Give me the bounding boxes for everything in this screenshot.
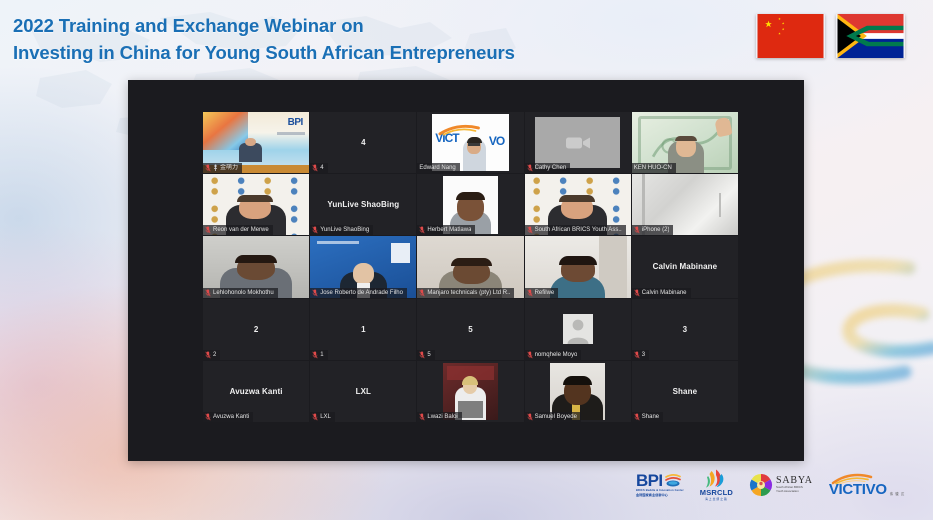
participant-center-name: Avuzwa Kanti	[226, 387, 287, 396]
msrcld-logo-mark	[705, 468, 727, 488]
participant-name-label: 3	[642, 351, 645, 359]
participant-tile[interactable]: South African BRICS Youth Ass..	[525, 174, 631, 235]
bpi-logo: BPI BRICS Buddle & Innovation Center 金砖国…	[636, 472, 684, 496]
participant-name-bar: 5	[417, 350, 434, 360]
participant-name-bar: Jose Roberto de Andrade Filho	[310, 288, 407, 298]
muted-microphone-icon	[312, 226, 318, 234]
participant-name-bar: nomqhele Moyo	[525, 350, 582, 360]
participant-name-label: KEN HUO-CN	[634, 164, 672, 172]
participant-center-name: LXL	[352, 387, 375, 396]
sponsor-logo-bar: BPI BRICS Buddle & Innovation Center 金砖国…	[636, 468, 905, 501]
muted-microphone-icon	[419, 289, 425, 297]
participant-name-bar: Lwazi Baloi	[417, 412, 461, 422]
south-africa-flag	[836, 14, 905, 58]
muted-microphone-icon	[205, 164, 211, 172]
participant-name-label: Cathy Chen	[535, 164, 567, 172]
participant-name-bar: Avuzwa Kanti	[203, 412, 253, 422]
flag-group	[756, 14, 905, 58]
participant-tile[interactable]: Calvin MabinaneCalvin Mabinane	[632, 236, 738, 297]
participant-tile[interactable]: 33	[632, 299, 738, 360]
muted-microphone-icon	[527, 351, 533, 359]
participant-name-label: Avuzwa Kanti	[213, 413, 249, 421]
participant-tile[interactable]: Refilwe	[525, 236, 631, 297]
participant-name-label: Manjaro technicals (pty) Ltd R..	[427, 289, 510, 297]
muted-microphone-icon	[634, 289, 640, 297]
participant-name-bar: 2	[203, 350, 220, 360]
participant-tile[interactable]: Samuel Boyede	[525, 361, 631, 422]
participant-name-label: 2	[213, 351, 216, 359]
participant-name-bar: South African BRICS Youth Ass..	[525, 225, 626, 235]
participant-name-bar: LXL	[310, 412, 335, 422]
participant-name-label: Refilwe	[535, 289, 555, 297]
msrcld-logo-text: MSRCLD	[700, 488, 733, 497]
participant-tile[interactable]: KEN HUO-CN	[632, 112, 738, 173]
participant-number-label: 2	[254, 325, 258, 334]
page-title-line-2: Investing in China for Young South Afric…	[13, 39, 633, 66]
participant-center-name: Calvin Mabinane	[649, 262, 722, 271]
participant-name-label: 5	[427, 351, 430, 359]
participant-center-name: Shane	[669, 387, 702, 396]
victivo-logo: VICTIVO 伟 骏 达	[829, 473, 905, 497]
participant-name-label: 4	[320, 164, 323, 172]
participant-tile[interactable]: ShaneShane	[632, 361, 738, 422]
victivo-logo-subtitle: 伟 骏 达	[890, 492, 905, 497]
participant-name-label: LXL	[320, 413, 331, 421]
sabya-logo-subtitle-2: Youth Association	[776, 490, 813, 494]
participant-number-label: 1	[361, 325, 365, 334]
participant-tile[interactable]: 44	[310, 112, 416, 173]
muted-microphone-icon	[312, 164, 318, 172]
participant-tile[interactable]: Herbert Matlawa	[417, 174, 523, 235]
muted-microphone-icon	[419, 351, 425, 359]
muted-microphone-icon	[527, 226, 533, 234]
page-title-line-1: 2022 Training and Exchange Webinar on	[13, 12, 633, 39]
participant-name-label: Calvin Mabinane	[642, 289, 687, 297]
participant-name-label: Edward Nang	[419, 164, 455, 172]
muted-microphone-icon	[634, 351, 640, 359]
muted-microphone-icon	[419, 413, 425, 421]
bpi-logo-subtitle-cn: 金砖国家商业创新中心	[636, 493, 668, 497]
participant-avatar	[563, 314, 593, 344]
bpi-logo-mark	[665, 474, 681, 487]
participant-number-label: 4	[361, 138, 365, 147]
participant-name-label: Herbert Matlawa	[427, 226, 471, 234]
muted-microphone-icon	[527, 164, 533, 172]
participant-tile[interactable]: 55	[417, 299, 523, 360]
participant-number-label: 5	[468, 325, 472, 334]
bpi-logo-text: BPI	[636, 472, 663, 489]
participant-name-bar: Calvin Mabinane	[632, 288, 691, 298]
participant-grid: BPI金萌力44VICTVOEdward NangCathy ChenKEN H…	[203, 112, 738, 422]
participant-name-bar: 3	[632, 350, 649, 360]
camera-off-placeholder	[535, 117, 620, 168]
participant-tile[interactable]: VICTVOEdward Nang	[417, 112, 523, 173]
participant-name-bar: YunLive ShaoBing	[310, 225, 373, 235]
participant-name-bar: 1	[310, 350, 327, 360]
muted-microphone-icon	[205, 351, 211, 359]
victivo-logo-text: VICTIVO	[829, 482, 887, 497]
muted-microphone-icon	[634, 226, 640, 234]
participant-name-bar: 金萌力	[203, 163, 242, 173]
participant-name-label: 金萌力	[220, 164, 238, 172]
muted-microphone-icon	[419, 226, 425, 234]
muted-microphone-icon	[527, 413, 533, 421]
participant-name-bar: Reon van der Merwe	[203, 225, 273, 235]
participant-name-label: Lehlohonolo Mokhothu	[213, 289, 274, 297]
sabya-logo: SABYA South African BRICS Youth Associat…	[749, 473, 813, 497]
msrcld-logo-subtitle: 海上丝绸之路	[705, 497, 728, 501]
msrcld-logo: MSRCLD 海上丝绸之路	[700, 468, 733, 501]
participant-tile[interactable]: Reon van der Merwe	[203, 174, 309, 235]
participant-name-label: iPhone (2)	[642, 226, 670, 234]
participant-tile[interactable]: iPhone (2)	[632, 174, 738, 235]
participant-tile[interactable]: Cathy Chen	[525, 112, 631, 173]
muted-microphone-icon	[205, 413, 211, 421]
participant-name-label: 1	[320, 351, 323, 359]
participant-name-label: Samuel Boyede	[535, 413, 577, 421]
participant-tile[interactable]: 22	[203, 299, 309, 360]
page-title: 2022 Training and Exchange Webinar on In…	[13, 12, 633, 66]
participant-name-label: Jose Roberto de Andrade Filho	[320, 289, 403, 297]
participant-name-label: YunLive ShaoBing	[320, 226, 369, 234]
muted-microphone-icon	[312, 289, 318, 297]
participant-name-bar: Edward Nang	[417, 163, 459, 173]
participant-name-bar: Lehlohonolo Mokhothu	[203, 288, 278, 298]
muted-microphone-icon	[527, 289, 533, 297]
china-flag	[756, 14, 825, 58]
zoom-meeting-window[interactable]: BPI金萌力44VICTVOEdward NangCathy ChenKEN H…	[128, 80, 804, 461]
muted-microphone-icon	[312, 351, 318, 359]
participant-name-label: South African BRICS Youth Ass..	[535, 226, 622, 234]
sabya-logo-mark	[749, 473, 773, 497]
participant-name-label: nomqhele Moyo	[535, 351, 578, 359]
participant-name-bar: Manjaro technicals (pty) Ltd R..	[417, 288, 514, 298]
participant-tile[interactable]: Lehlohonolo Mokhothu	[203, 236, 309, 297]
muted-microphone-icon	[205, 226, 211, 234]
participant-tile[interactable]: Lwazi Baloi	[417, 361, 523, 422]
participant-tile[interactable]: BPI金萌力	[203, 112, 309, 173]
participant-tile[interactable]: Avuzwa KantiAvuzwa Kanti	[203, 361, 309, 422]
participant-name-bar: iPhone (2)	[632, 225, 674, 235]
participant-name-bar: Samuel Boyede	[525, 412, 581, 422]
participant-number-label: 3	[683, 325, 687, 334]
participant-tile[interactable]: nomqhele Moyo	[525, 299, 631, 360]
participant-name-label: Lwazi Baloi	[427, 413, 457, 421]
participant-tile[interactable]: Manjaro technicals (pty) Ltd R..	[417, 236, 523, 297]
muted-microphone-icon	[634, 413, 640, 421]
participant-tile[interactable]: Jose Roberto de Andrade Filho	[310, 236, 416, 297]
pin-icon	[213, 164, 218, 172]
participant-name-label: Shane	[642, 413, 659, 421]
participant-name-bar: Refilwe	[525, 288, 559, 298]
camera-off-icon	[565, 134, 591, 151]
participant-center-name: YunLive ShaoBing	[323, 200, 403, 209]
participant-tile[interactable]: 11	[310, 299, 416, 360]
participant-name-bar: Shane	[632, 412, 663, 422]
participant-tile[interactable]: YunLive ShaoBingYunLive ShaoBing	[310, 174, 416, 235]
muted-microphone-icon	[312, 413, 318, 421]
participant-name-bar: 4	[310, 163, 327, 173]
participant-name-bar: Herbert Matlawa	[417, 225, 475, 235]
person-placeholder-icon	[563, 314, 593, 344]
participant-name-label: Reon van der Merwe	[213, 226, 269, 234]
participant-name-bar: Cathy Chen	[525, 163, 571, 173]
participant-tile[interactable]: LXLLXL	[310, 361, 416, 422]
muted-microphone-icon	[205, 289, 211, 297]
participant-name-bar: KEN HUO-CN	[632, 163, 676, 173]
